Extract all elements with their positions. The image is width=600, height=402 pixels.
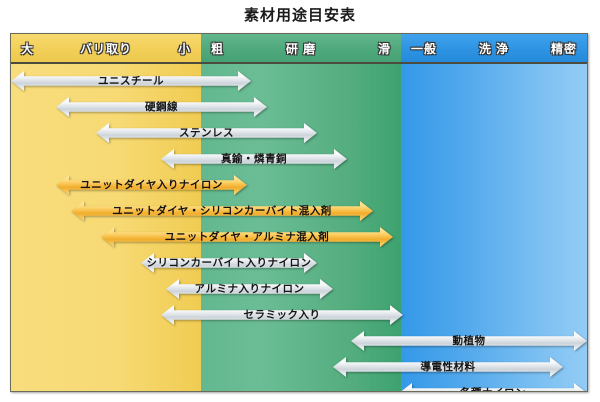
range-arrow: ユニットダイヤ・アルミナ混入剤: [101, 227, 393, 247]
arrow-label: ユニスチール: [98, 76, 164, 87]
arrow-label: 真鍮・燐青銅: [221, 154, 287, 165]
range-arrow: ユニットダイヤ・シリコンカーバイト混入剤: [71, 201, 373, 221]
range-arrow: シリコンカーバイト入りナイロン: [141, 253, 317, 273]
header-label: 滑: [378, 40, 391, 57]
header-label: 精密: [551, 40, 577, 57]
page-title: 素材用途目安表: [0, 4, 600, 25]
header-band-green: 粗研 磨滑: [201, 34, 401, 62]
header-label-cell: 小: [11, 34, 201, 62]
header-label-cell: 滑: [201, 34, 401, 62]
arrow-label: 各種ナイロン: [460, 388, 526, 391]
arrow-label: アルミナ入りナイロン: [195, 284, 305, 295]
range-arrow: アルミナ入りナイロン: [166, 279, 333, 299]
arrow-label: セラミック入り: [244, 310, 321, 321]
header-band-blue: 一般洗 浄精密: [401, 34, 587, 62]
header-label: 小: [178, 40, 191, 57]
chart-plot-area: ユニスチール硬鋼線ステンレス真鍮・燐青銅ユニットダイヤ入りナイロンユニットダイヤ…: [11, 64, 587, 391]
header-row: 大バリ取り小 粗研 磨滑 一般洗 浄精密: [11, 34, 587, 64]
header-band-yellow: 大バリ取り小: [11, 34, 201, 62]
range-arrow: 硬鋼線: [56, 97, 267, 117]
arrow-label: 硬鋼線: [145, 102, 178, 113]
arrow-label: ユニットダイヤ・シリコンカーバイト混入剤: [112, 206, 332, 217]
arrow-label: シリコンカーバイト入りナイロン: [147, 258, 312, 269]
arrow-label: ユニットダイヤ入りナイロン: [80, 180, 223, 191]
range-arrow: セラミック入り: [161, 305, 403, 325]
arrow-label: 動植物: [453, 336, 486, 347]
range-arrow: 導電性材料: [333, 357, 563, 377]
chart-frame: 大バリ取り小 粗研 磨滑 一般洗 浄精密 ユニスチール硬鋼線ステンレス真鍮・燐青…: [10, 33, 588, 392]
arrow-label: 導電性材料: [421, 362, 476, 373]
arrow-label: ユニットダイヤ・アルミナ混入剤: [165, 232, 330, 243]
range-arrow: ユニットダイヤ入りナイロン: [56, 175, 247, 195]
range-arrow: 各種ナイロン: [399, 383, 587, 391]
arrow-label: ステンレス: [179, 128, 234, 139]
range-arrow: 真鍮・燐青銅: [161, 149, 347, 169]
range-arrow: ステンレス: [96, 123, 317, 143]
header-label-cell: 精密: [401, 34, 587, 62]
range-arrow: 動植物: [351, 331, 587, 351]
range-arrow: ユニスチール: [11, 71, 251, 91]
